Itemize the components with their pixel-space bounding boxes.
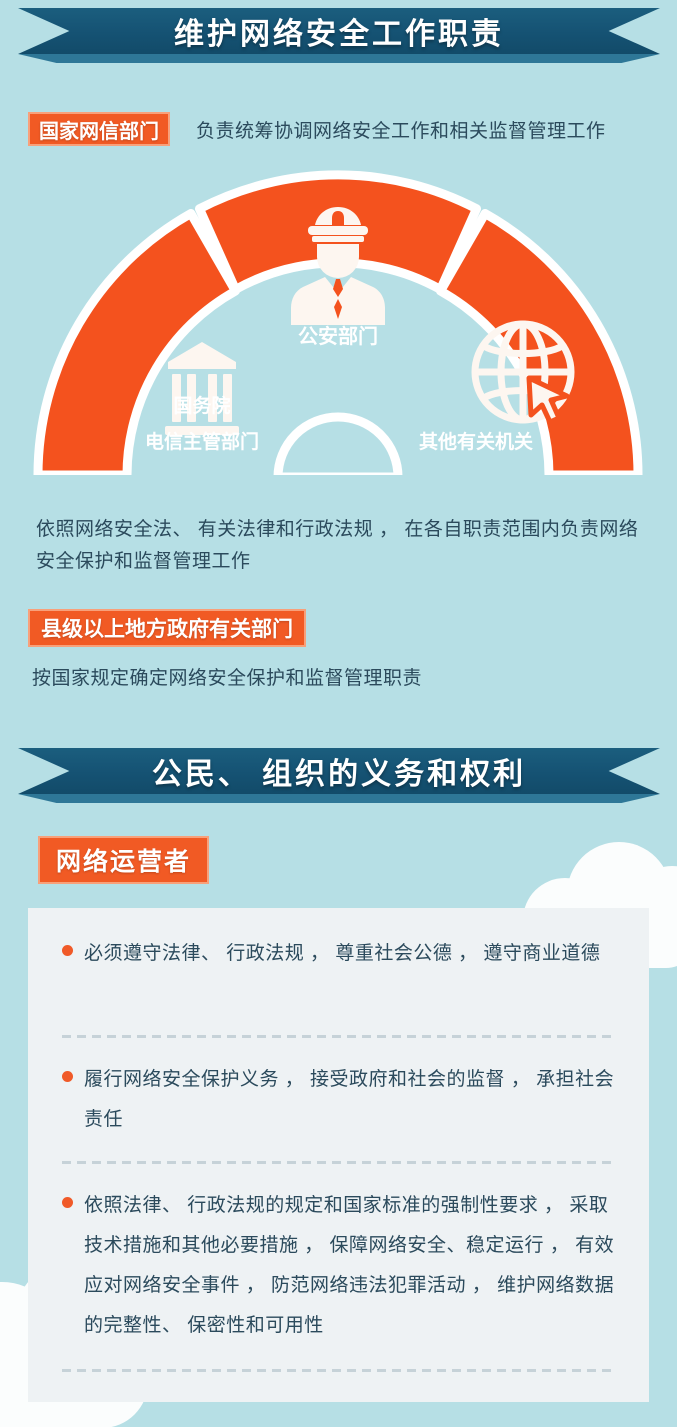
section-banner-duties: 维护网络安全工作职责	[18, 8, 660, 68]
fan-diagram: 国务院 电信主管部门 公安部门	[0, 165, 677, 485]
bullet-separator	[62, 1369, 617, 1372]
fan-label-other-authorities: 其他有关机关	[419, 430, 533, 453]
fan-label-public-security: 公安部门	[298, 324, 378, 348]
label-chip-network-operator: 网络运营者	[38, 836, 209, 884]
bullet-separator	[62, 1035, 617, 1038]
fan-label-state-council-line2: 电信主管部门	[145, 430, 259, 453]
section-title-rights: 公民、 组织的义务和权利	[18, 748, 660, 794]
fan-label-state-council-line1: 国务院	[173, 394, 230, 417]
fan-description: 依照网络安全法、 有关法律和行政法规 ， 在各自职责范围内负责网络安全保护和监督…	[36, 514, 646, 578]
bank-building-icon	[165, 342, 239, 435]
ribbon-shadow-strip	[18, 794, 660, 803]
ribbon-shadow-strip	[18, 54, 660, 63]
list-item: 必须遵守法律、 行政法规 ， 尊重社会公德 ， 遵守商业道德	[62, 934, 622, 974]
bullet-text: 依照法律、 行政法规的规定和国家标准的强制性要求 ， 采取技术措施和其他必要措施…	[84, 1186, 622, 1346]
infographic-page: 维护网络安全工作职责 国家网信部门 负责统筹协调网络安全工作和相关监督管理工作	[0, 0, 677, 1427]
fan-diagram-svg: 国务院 电信主管部门 公安部门	[0, 165, 677, 485]
cac-description: 负责统筹协调网络安全工作和相关监督管理工作	[196, 116, 666, 148]
bullet-text: 必须遵守法律、 行政法规 ， 尊重社会公德 ， 遵守商业道德	[84, 934, 622, 974]
globe-cursor-icon	[475, 324, 571, 420]
fan-segment-public-security[interactable]: 公安部门	[200, 175, 477, 348]
label-chip-cac: 国家网信部门	[28, 112, 170, 146]
network-operator-card: 必须遵守法律、 行政法规 ， 尊重社会公德 ， 遵守商业道德 履行网络安全保护义…	[28, 908, 649, 1402]
bullet-dot-icon	[62, 1197, 73, 1208]
local-government-description: 按国家规定确定网络安全保护和监督管理职责	[32, 663, 642, 695]
label-chip-local-government: 县级以上地方政府有关部门	[28, 609, 306, 647]
list-item: 依照法律、 行政法规的规定和国家标准的强制性要求 ， 采取技术措施和其他必要措施…	[62, 1186, 622, 1346]
fan-center-hole	[278, 417, 398, 477]
bullet-dot-icon	[62, 945, 73, 956]
section-banner-rights: 公民、 组织的义务和权利	[18, 748, 660, 808]
list-item: 履行网络安全保护义务 ， 接受政府和社会的监督 ， 承担社会责任	[62, 1060, 622, 1140]
bullet-dot-icon	[62, 1071, 73, 1082]
section-title-duties: 维护网络安全工作职责	[18, 8, 660, 54]
fan-baseline-mask	[0, 475, 677, 485]
bullet-separator	[62, 1161, 617, 1164]
bullet-text: 履行网络安全保护义务 ， 接受政府和社会的监督 ， 承担社会责任	[84, 1060, 622, 1140]
